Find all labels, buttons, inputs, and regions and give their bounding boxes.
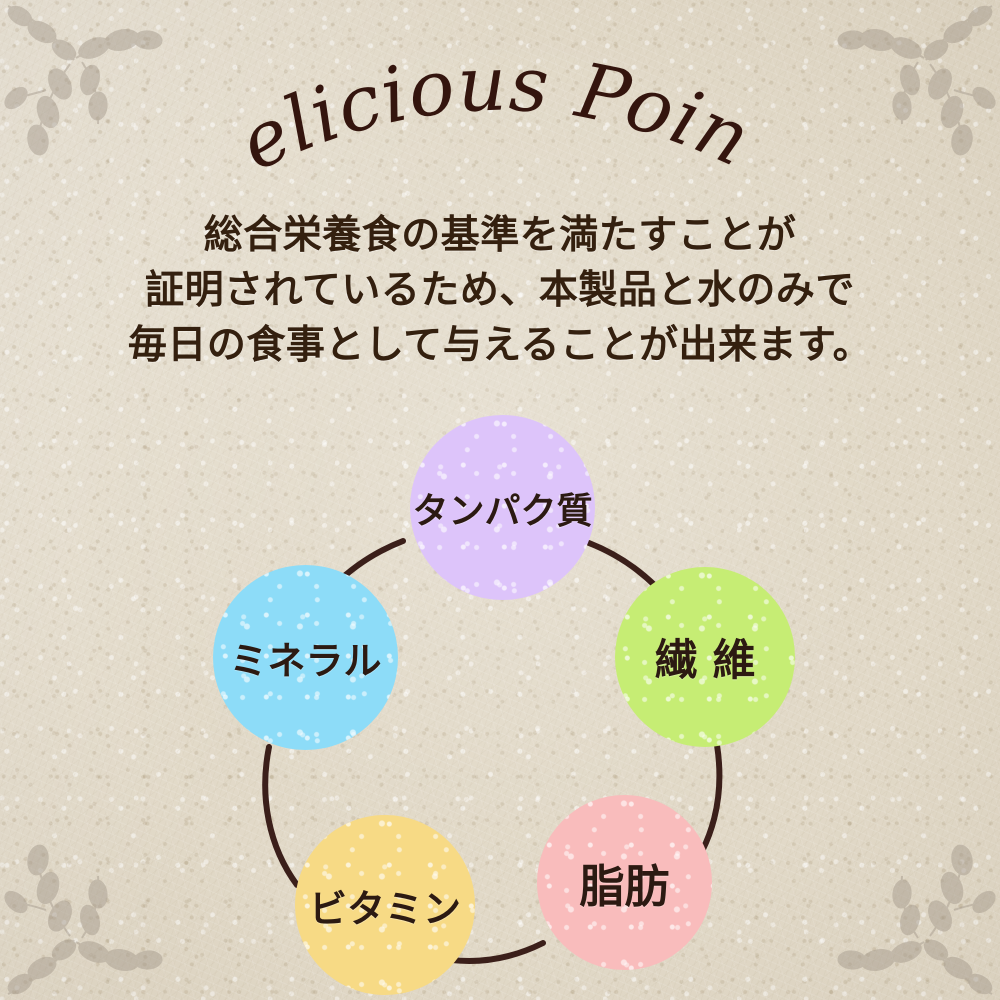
nutrient-node-vitamin[interactable]: ビタミン bbox=[295, 815, 475, 995]
lead-copy-line-3: 毎日の食事として与えることが出来ます。 bbox=[0, 318, 1000, 373]
lead-copy-line-2: 証明されているため、本製品と水のみで bbox=[0, 263, 1000, 318]
promo-page: Delicious Points 総合栄養食の基準を満たすことが 証明されている… bbox=[0, 0, 1000, 1000]
nutrient-node-mineral[interactable]: ミネラル bbox=[213, 565, 398, 750]
connector-vitamin-mineral bbox=[265, 747, 297, 885]
nutrient-node-protein[interactable]: タンパク質 bbox=[410, 415, 595, 600]
nutrient-label-protein: タンパク質 bbox=[412, 482, 592, 534]
lead-copy-line-1: 総合栄養食の基準を満たすことが bbox=[0, 208, 1000, 263]
nutrient-label-vitamin: ビタミン bbox=[309, 878, 461, 933]
nutrient-label-fiber: 繊 維 bbox=[655, 626, 756, 688]
nutrient-label-fat: 脂肪 bbox=[579, 850, 669, 915]
nutrient-label-mineral: ミネラル bbox=[229, 630, 381, 685]
nutrient-node-fat[interactable]: 脂肪 bbox=[537, 795, 712, 970]
lead-copy: 総合栄養食の基準を満たすことが 証明されているため、本製品と水のみで 毎日の食事… bbox=[0, 208, 1000, 373]
page-title: Delicious Points bbox=[0, 58, 1000, 188]
nutrient-node-fiber[interactable]: 繊 維 bbox=[615, 567, 795, 747]
nutrition-wheel-diagram: タンパク質 繊 維 脂肪 ビタミン ミネラル bbox=[185, 415, 815, 995]
